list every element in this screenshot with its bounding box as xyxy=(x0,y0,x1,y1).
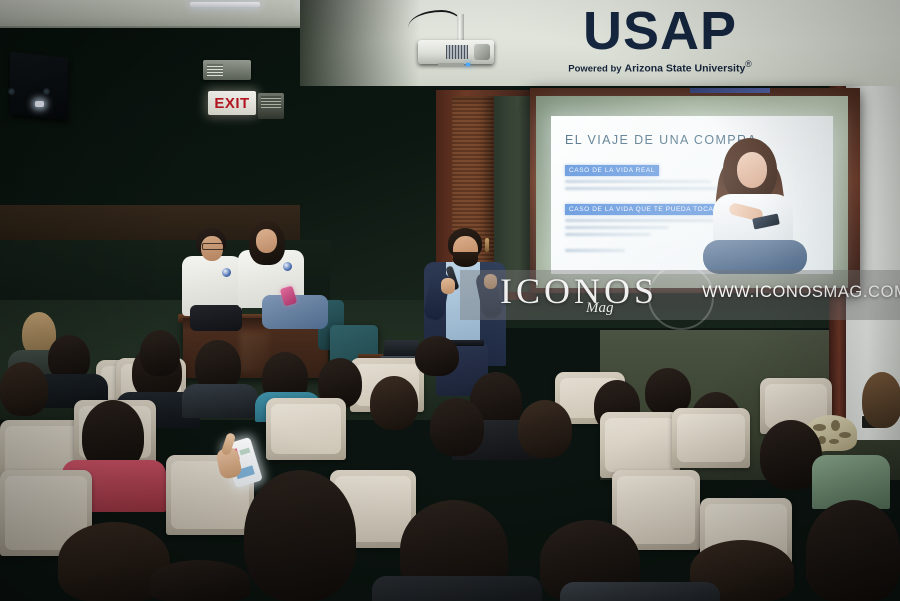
panelist-left-legs xyxy=(190,305,242,331)
watermark-url: WWW.ICONOSMAG.COM xyxy=(702,283,900,302)
usap-wordmark: USAP xyxy=(545,4,775,58)
auditorium-seat[interactable] xyxy=(600,412,680,478)
audience-head xyxy=(862,372,900,428)
audience-shoulders xyxy=(560,582,720,601)
speaker-hand-left xyxy=(441,278,455,294)
projector-vent xyxy=(446,45,468,59)
slide-body-line xyxy=(565,249,625,252)
slide-photo-woman xyxy=(691,132,819,274)
projector-mount-pole xyxy=(457,14,464,42)
exit-sign-label: EXIT xyxy=(214,96,249,111)
wall-speaker xyxy=(10,52,68,120)
uniform-badge xyxy=(283,262,292,271)
projector-bracket xyxy=(438,63,464,67)
exit-sign: EXIT xyxy=(208,91,256,115)
emergency-light-secondary xyxy=(258,93,284,119)
wall-mount-dot xyxy=(8,88,15,95)
screen-top-strip xyxy=(690,88,770,93)
projector-lens xyxy=(474,44,490,60)
audience-head xyxy=(415,336,459,376)
ceiling-light xyxy=(190,2,260,7)
uniform-badge xyxy=(222,268,231,277)
audience-head-foreground xyxy=(806,500,900,601)
audience-head xyxy=(370,376,418,430)
slide-body-line xyxy=(565,233,651,236)
audience-head xyxy=(518,400,572,458)
auditorium-seat[interactable] xyxy=(672,408,750,468)
audience-shoulders xyxy=(372,576,542,601)
presentation-slide: EL VIAJE DE UNA COMPRA CASO DE LA VIDA R… xyxy=(551,116,833,274)
audience-head xyxy=(140,330,180,376)
watermark-brand: ICONOS xyxy=(500,272,658,310)
slide-body-line xyxy=(565,226,669,229)
usap-powered-brand: Arizona State University xyxy=(625,63,746,75)
speaker-beard xyxy=(453,252,478,267)
slide-body-line xyxy=(565,180,711,183)
audience-head-foreground xyxy=(244,470,356,601)
usap-tagline: Powered by Arizona State University® xyxy=(545,59,775,75)
panelist-right-face xyxy=(256,229,277,253)
audience-head xyxy=(0,362,48,416)
eyeglasses-icon xyxy=(202,243,224,250)
usap-logo: USAP Powered by Arizona State University… xyxy=(545,4,775,75)
watermark-brand-script: Mag xyxy=(586,300,614,317)
slide-tag-1: CASO DE LA VIDA REAL xyxy=(565,165,659,176)
speaker-led-icon xyxy=(35,101,44,107)
door-handle[interactable] xyxy=(485,238,489,252)
sign-panel-shadow xyxy=(300,0,420,86)
auditorium-seat[interactable] xyxy=(266,398,346,460)
wall-mount-dot xyxy=(43,88,50,95)
usap-powered-prefix: Powered by xyxy=(568,64,621,75)
projector-led xyxy=(466,63,470,66)
audience-shoulders xyxy=(182,384,258,418)
audience-head-foreground xyxy=(150,560,250,601)
audience-head xyxy=(430,398,484,456)
conference-photo: USAP Powered by Arizona State University… xyxy=(0,0,900,601)
emergency-light-grill xyxy=(207,64,223,76)
